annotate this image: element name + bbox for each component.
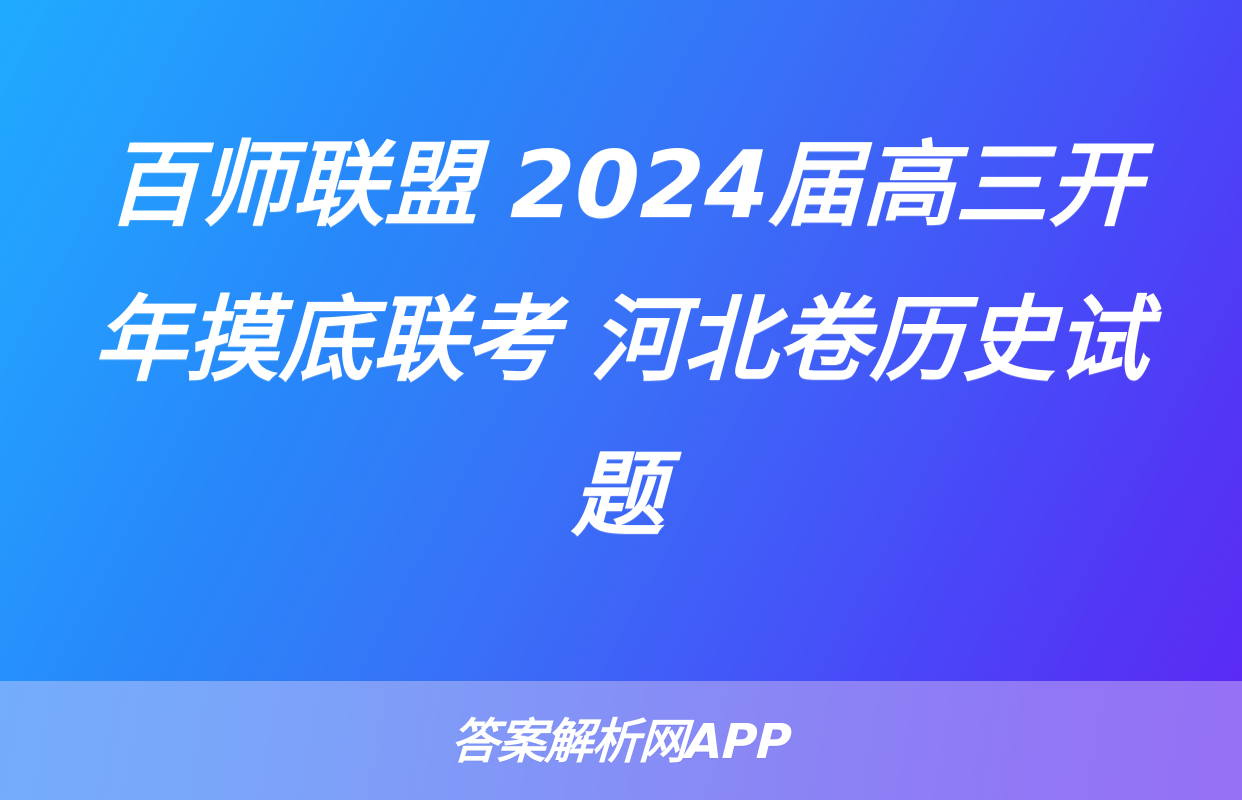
app-watermark-band: 答案解析网APP [0,681,1242,800]
hero-gradient-banner: 百师联盟 2024届高三开年摸底联考 河北卷历史试题 [0,0,1242,681]
hero-content: 百师联盟 2024届高三开年摸底联考 河北卷历史试题 [0,0,1242,681]
app-brand-label: 答案解析网APP [450,718,792,766]
page-title: 百师联盟 2024届高三开年摸底联考 河北卷历史试题 [70,108,1172,573]
exam-cover-card: 百师联盟 2024届高三开年摸底联考 河北卷历史试题 答案解析网APP [0,0,1242,800]
